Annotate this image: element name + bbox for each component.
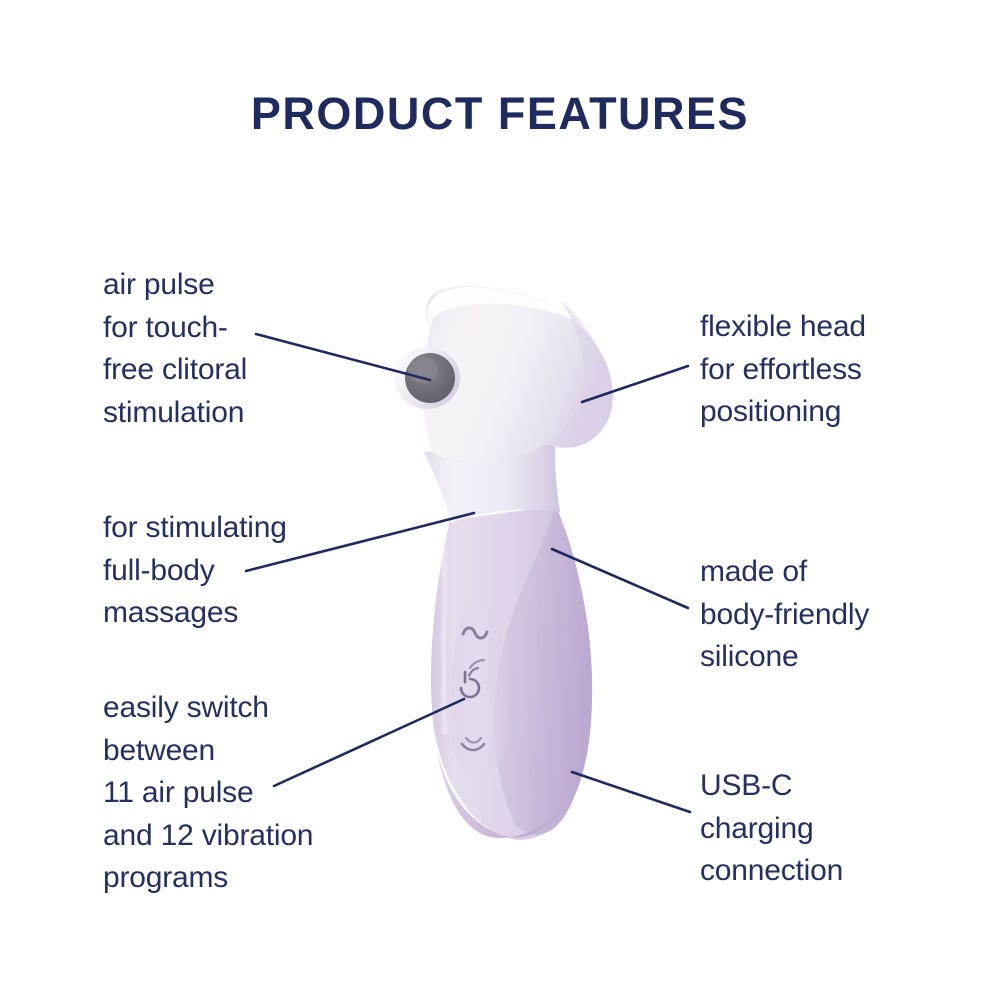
callout-usb-c-charging: USB-C charging connection bbox=[700, 765, 960, 893]
control-panel[interactable] bbox=[451, 606, 509, 774]
callout-body-friendly-silicone: made of body-friendly silicone bbox=[700, 551, 960, 679]
callout-programs: easily switch between 11 air pulse and 1… bbox=[103, 687, 403, 900]
callout-full-body-massages: for stimulating full-body massages bbox=[103, 507, 383, 635]
air-pulse-nozzle bbox=[394, 347, 460, 409]
callout-flexible-head: flexible head for effortless positioning bbox=[700, 306, 960, 434]
product-features-infographic: PRODUCT FEATURES bbox=[0, 0, 1000, 1000]
product-head bbox=[394, 286, 613, 462]
callout-air-pulse: air pulse for touch- free clitoral stimu… bbox=[103, 264, 363, 434]
